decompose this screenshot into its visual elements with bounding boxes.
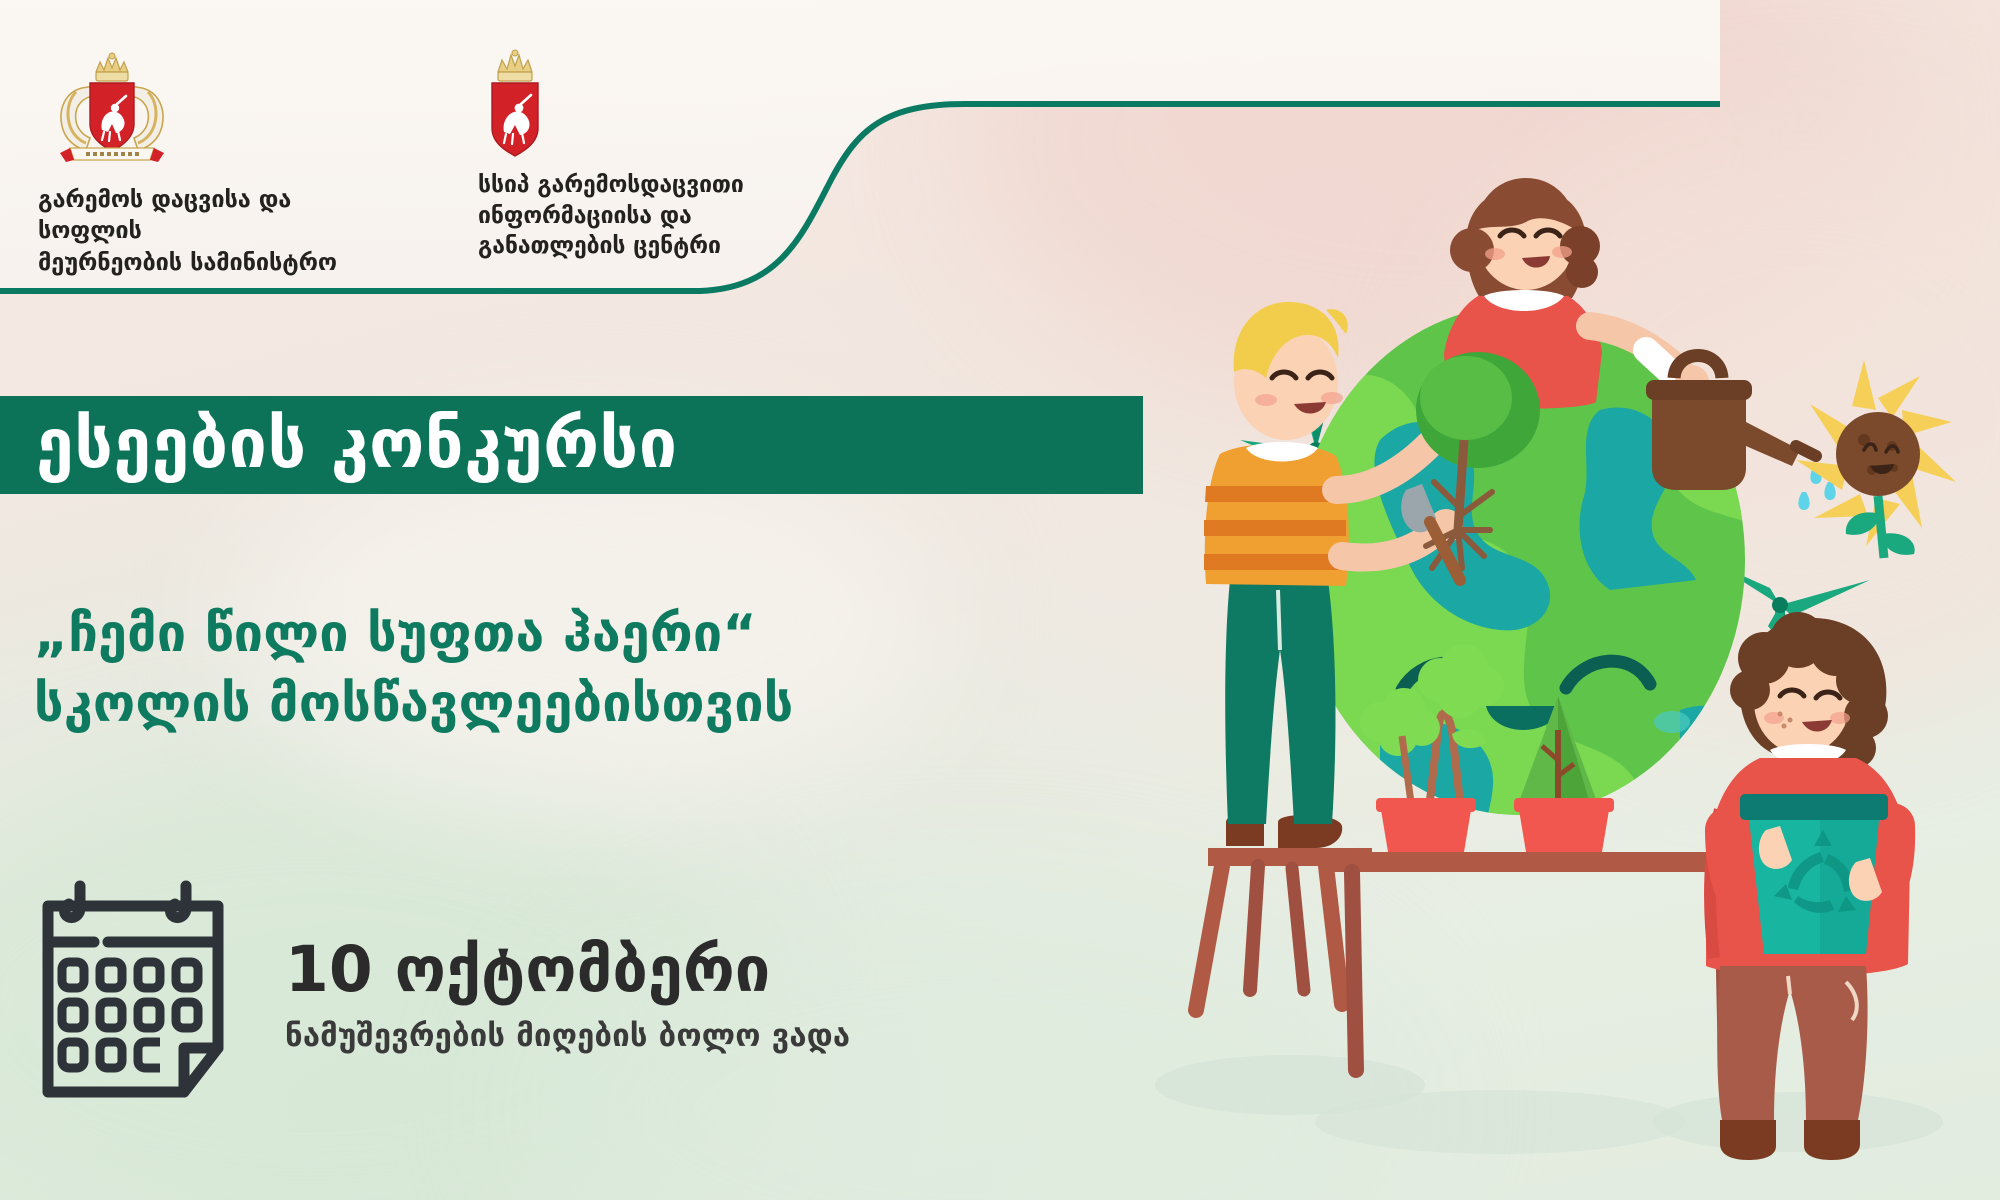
logo-center-line1: სსიპ გარემოსდაცვითი — [478, 170, 808, 201]
logo-ministry: გარემოს დაცვისა და სოფლის მეურნეობის სამ… — [38, 52, 388, 278]
calendar-icon — [36, 880, 241, 1105]
poster-canvas: გარემოს დაცვისა და სოფლის მეურნეობის სამ… — [0, 0, 2000, 1200]
logo-center-label: სსიპ გარემოსდაცვითი ინფორმაციისა და განა… — [478, 170, 808, 262]
logo-center: სსიპ გარემოსდაცვითი ინფორმაციისა და განა… — [478, 48, 808, 262]
deadline-block: 10 ოქტომბერი ნამუშევრების მიღების ბოლო ვ… — [36, 880, 850, 1105]
deadline-note: ნამუშევრების მიღების ბოლო ვადა — [285, 1018, 850, 1054]
deadline-text: 10 ოქტომბერი ნამუშევრების მიღების ბოლო ვ… — [285, 937, 850, 1053]
subtitle-line2: სკოლის მოსწავლეებისთვის — [34, 670, 1214, 740]
logo-center-line3: განათლების ცენტრი — [478, 231, 808, 262]
logo-ministry-line2: მეურნეობის სამინისტრო — [38, 247, 388, 278]
illustration-children-caring-for-earth — [1080, 110, 2000, 1200]
georgia-greater-coat-of-arms-icon — [46, 52, 178, 170]
georgia-lesser-coat-of-arms-icon — [482, 48, 548, 160]
boy-holding-recycling-bin — [1706, 612, 1910, 1160]
deadline-date: 10 ოქტომბერი — [285, 937, 850, 1003]
page-title: ესეების კონკურსი — [36, 411, 678, 479]
logo-ministry-label: გარემოს დაცვისა და სოფლის მეურნეობის სამ… — [38, 184, 388, 278]
subtitle: „ჩემი წილი სუფთა ჰაერი“ სკოლის მოსწავლეე… — [34, 600, 1214, 739]
title-banner: ესეების კონკურსი — [0, 396, 1143, 494]
subtitle-line1: „ჩემი წილი სუფთა ჰაერი“ — [34, 600, 1214, 670]
logo-center-line2: ინფორმაციისა და — [478, 201, 808, 232]
logo-ministry-line1: გარემოს დაცვისა და სოფლის — [38, 184, 388, 247]
